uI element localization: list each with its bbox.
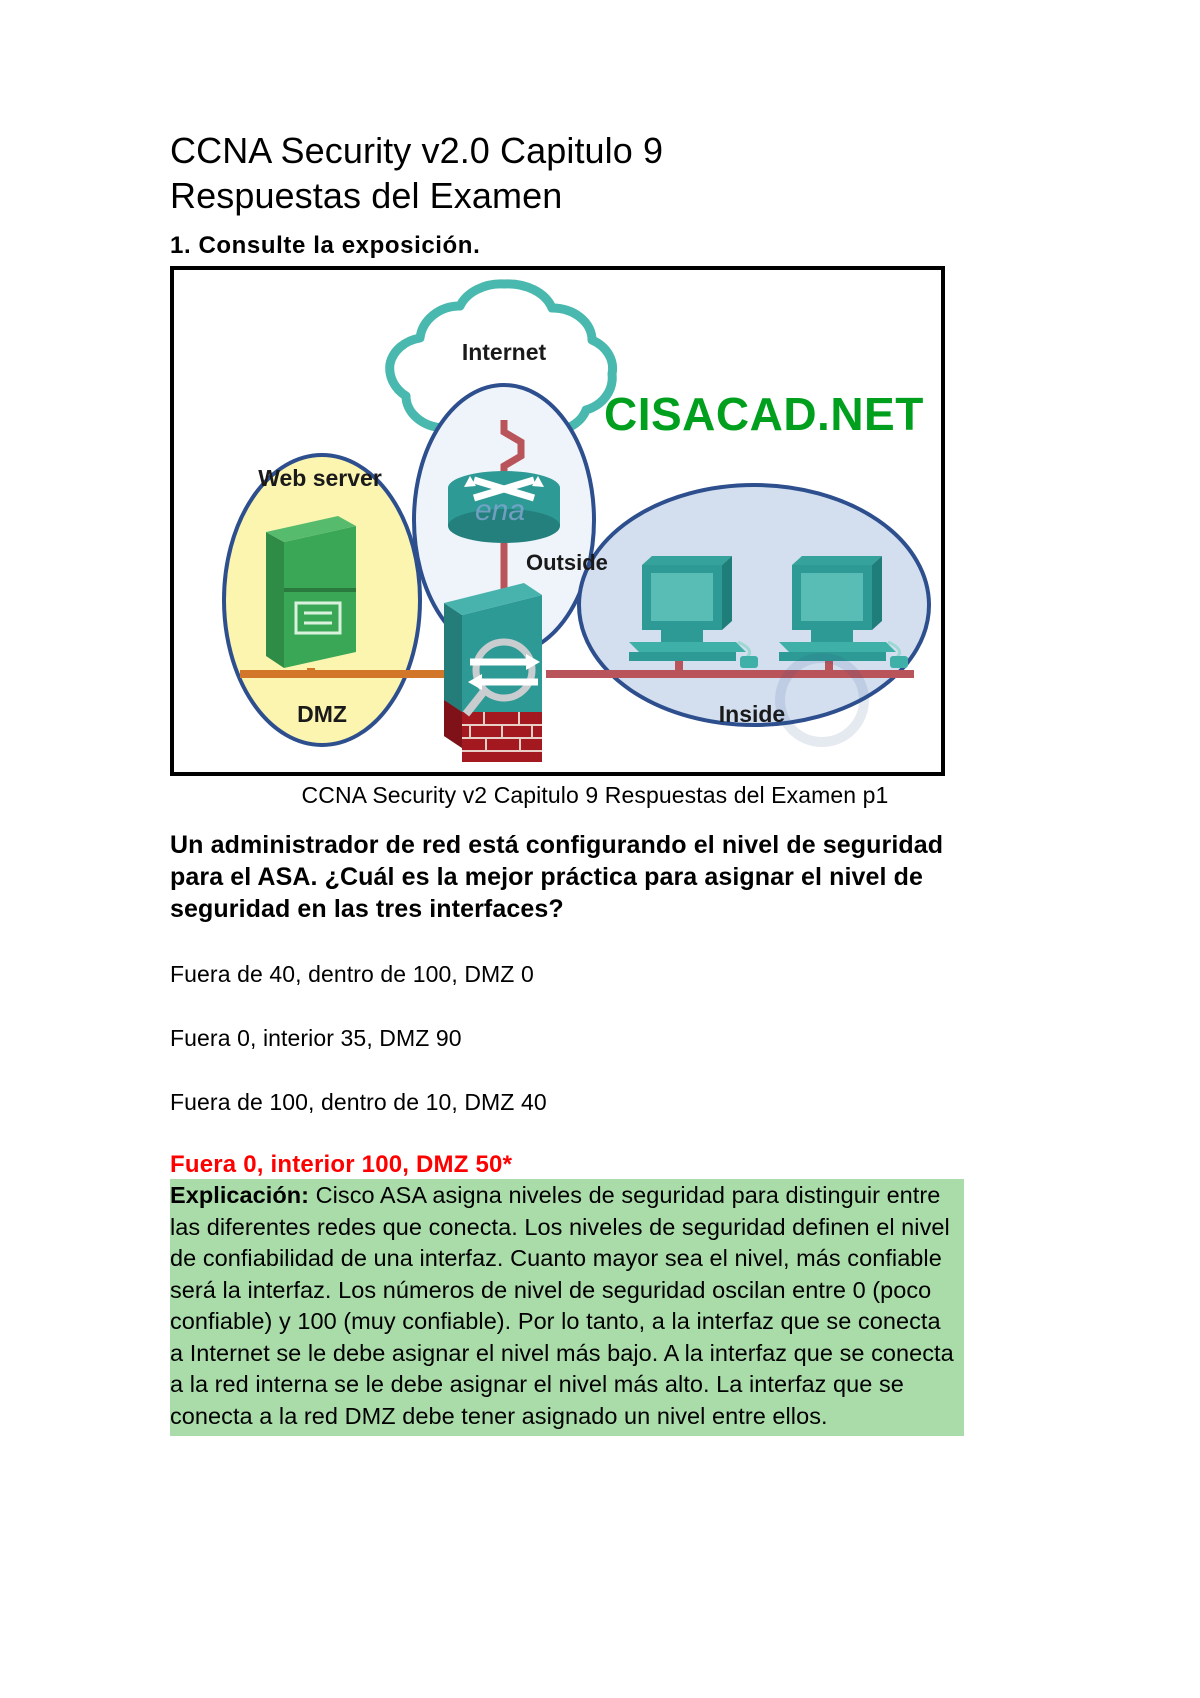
web-server-label: Web server [258, 465, 382, 491]
page-title: CCNA Security v2.0 Capitulo 9 Respuestas… [170, 128, 810, 218]
correct-answer-option[interactable]: Fuera 0, interior 100, DMZ 50* [170, 1151, 1030, 1179]
router-icon: ena [448, 471, 560, 543]
cisacad-watermark-text: CISACAD.NET [604, 388, 924, 440]
outside-interface-label: Outside [526, 550, 608, 575]
cloud-label: Internet [462, 339, 547, 365]
answer-option-3[interactable]: Fuera de 100, dentro de 10, DMZ 40 [170, 1087, 1030, 1117]
page-title-line-1: CCNA Security v2.0 Capitulo 9 [170, 130, 663, 171]
question-stem: Un administrador de red está configurand… [170, 829, 960, 925]
question-heading: 1. Consulte la exposición. [170, 232, 1030, 260]
dmz-zone-label: DMZ [297, 701, 347, 727]
answer-option-2[interactable]: Fuera 0, interior 35, DMZ 90 [170, 1023, 1030, 1053]
network-topology-figure: Internet CISACAD.NET ena [170, 266, 945, 776]
answer-option-1[interactable]: Fuera de 40, dentro de 100, DMZ 0 [170, 959, 1030, 989]
explanation-block: Explicación: Cisco ASA asigna niveles de… [170, 1179, 964, 1436]
network-diagram-svg: Internet CISACAD.NET ena [174, 270, 941, 772]
figure-caption: CCNA Security v2 Capitulo 9 Respuestas d… [170, 782, 1030, 809]
page-title-line-2: Respuestas del Examen [170, 175, 562, 216]
explanation-text: Cisco ASA asigna niveles de seguridad pa… [170, 1182, 954, 1429]
explanation-label: Explicación: [170, 1182, 309, 1208]
web-server-icon [266, 516, 356, 674]
document-page: CCNA Security v2.0 Capitulo 9 Respuestas… [0, 0, 1200, 1698]
asa-firewall-icon [444, 583, 542, 762]
router-watermark-overlay: ena [475, 494, 525, 527]
